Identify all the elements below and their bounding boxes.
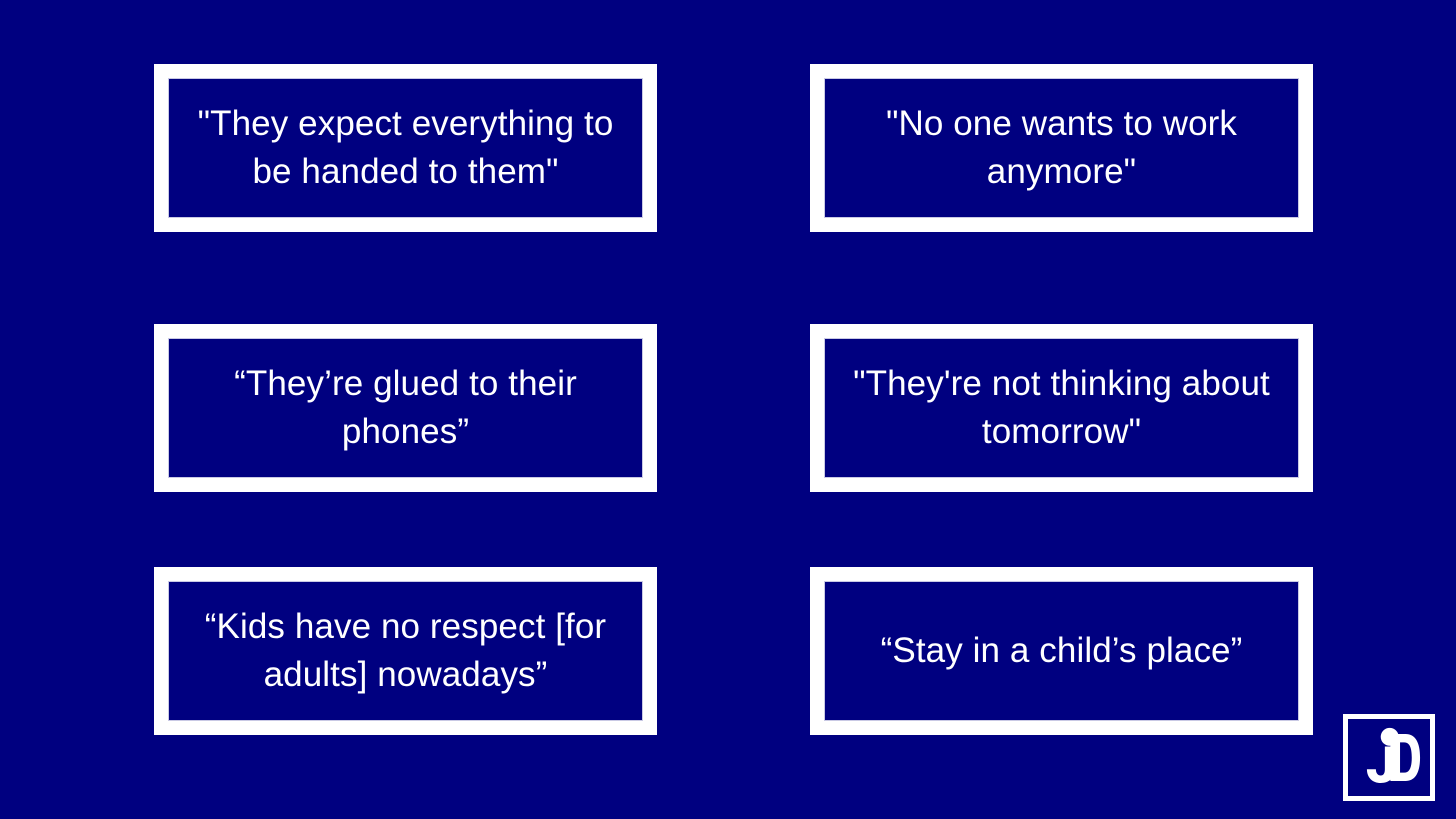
quote-card-glued-to-phones: “They’re glued to their phones” <box>154 324 657 492</box>
quote-card-childs-place: “Stay in a child’s place” <box>810 567 1313 735</box>
quote-text: “They’re glued to their phones” <box>168 360 643 455</box>
jd-monogram-logo <box>1343 714 1435 801</box>
quote-text: “Stay in a child’s place” <box>867 627 1257 675</box>
quote-card-kids-no-respect: “Kids have no respect [for adults] nowad… <box>154 567 657 735</box>
jd-monogram-icon <box>1352 723 1426 792</box>
quote-text: "They expect everything to be handed to … <box>168 100 643 195</box>
slide-canvas: "They expect everything to be handed to … <box>0 0 1456 819</box>
quote-text: "No one wants to work anymore" <box>824 100 1299 195</box>
logo-inner-field <box>1352 723 1426 792</box>
quote-card-expect-everything: "They expect everything to be handed to … <box>154 64 657 232</box>
quote-card-no-one-wants-work: "No one wants to work anymore" <box>810 64 1313 232</box>
quote-text: "They're not thinking about tomorrow" <box>824 360 1299 455</box>
quote-text: “Kids have no respect [for adults] nowad… <box>168 603 643 698</box>
quote-card-not-thinking-tomorrow: "They're not thinking about tomorrow" <box>810 324 1313 492</box>
